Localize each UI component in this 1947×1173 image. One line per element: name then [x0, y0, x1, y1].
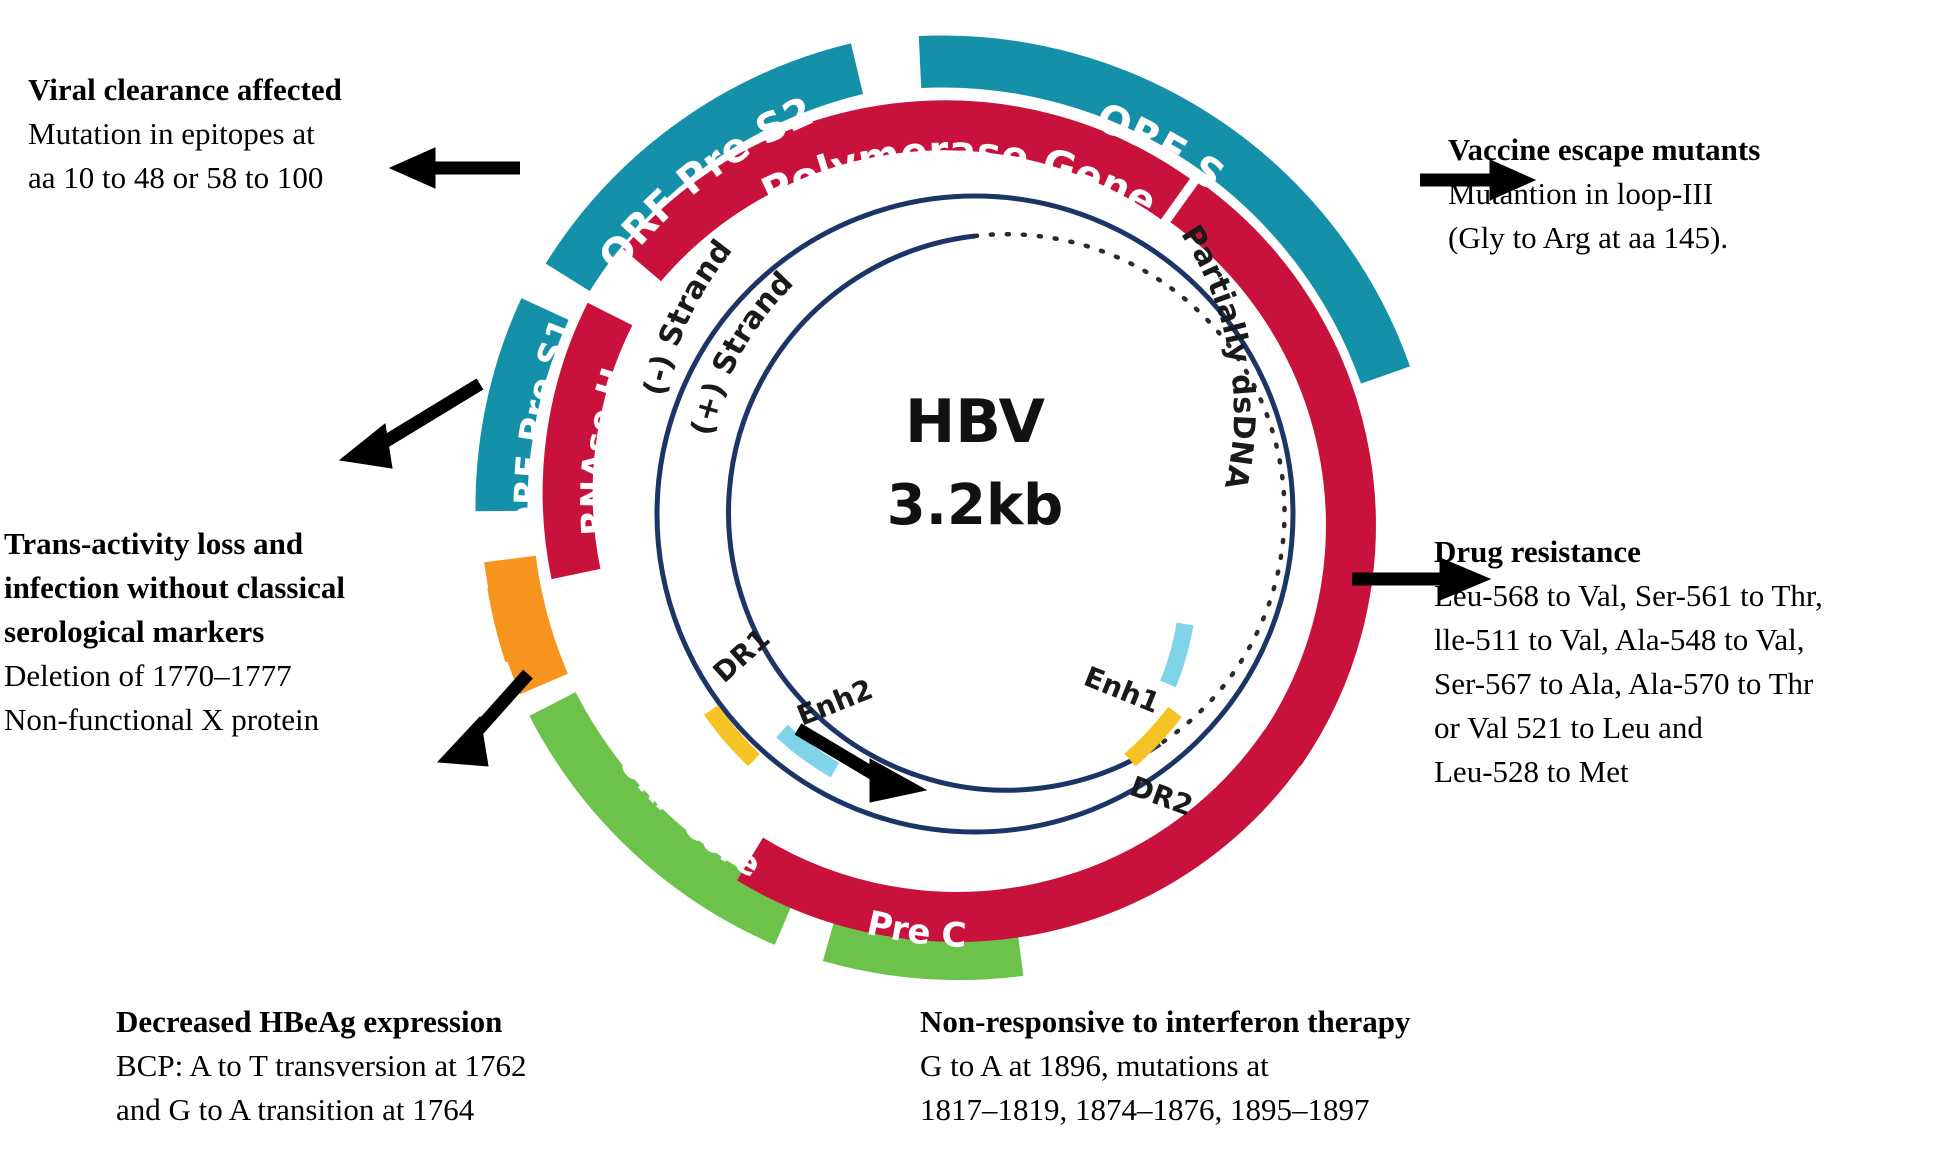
- center-subtitle: 3.2kb: [887, 473, 1064, 538]
- label-orf-p: ORF P: [912, 841, 1035, 891]
- hbeag-heading: Decreased HBeAg expression: [116, 1000, 527, 1044]
- feature-dr2-block: [1130, 712, 1175, 760]
- viral-clearance-heading: Viral clearance affected: [28, 68, 342, 112]
- annotation-vaccine-escape: Vaccine escape mutants Mutantion in loop…: [1448, 128, 1760, 260]
- vaccine-escape-line-2: (Gly to Arg at aa 145).: [1448, 216, 1760, 260]
- annotation-hbeag: Decreased HBeAg expression BCP: A to T t…: [116, 1000, 527, 1132]
- trans-activity-line-1: Deletion of 1770–1777: [4, 654, 345, 698]
- drug-resistance-line-4: or Val 521 to Leu and: [1434, 706, 1823, 750]
- label-dr2: DR2: [1126, 770, 1198, 823]
- trans-activity-heading-line-1: Trans-activity loss and: [4, 522, 345, 566]
- feature-enh1-block: [1168, 624, 1185, 684]
- center-title: HBV: [905, 387, 1046, 457]
- interferon-line-2: 1817–1819, 1874–1876, 1895–1897: [920, 1088, 1411, 1132]
- vaccine-escape-heading: Vaccine escape mutants: [1448, 128, 1760, 172]
- vaccine-escape-line-1: Mutantion in loop-III: [1448, 172, 1760, 216]
- arc-orf-x-body: [510, 559, 544, 684]
- trans-activity-line-2: Non-functional X protein: [4, 698, 345, 742]
- hbeag-line-1: BCP: A to T transversion at 1762: [116, 1044, 527, 1088]
- arrow-hbeag: [438, 674, 528, 766]
- trans-activity-heading-line-2: infection without classical: [4, 566, 345, 610]
- label-enh2: Enh2: [792, 672, 877, 732]
- annotation-drug-resistance: Drug resistance Leu-568 to Val, Ser-561 …: [1434, 530, 1823, 794]
- interferon-line-1: G to A at 1896, mutations at: [920, 1044, 1411, 1088]
- viral-clearance-line-1: Mutation in epitopes at: [28, 112, 342, 156]
- hbeag-line-2: and G to A transition at 1764: [116, 1088, 527, 1132]
- trans-activity-heading-line-3: serological markers: [4, 610, 345, 654]
- label-enh1: Enh1: [1079, 660, 1164, 720]
- label-orf-x: ORF X: [544, 581, 610, 701]
- drug-resistance-line-1: Leu-568 to Val, Ser-561 to Thr,: [1434, 574, 1823, 618]
- interferon-heading: Non-responsive to interferon therapy: [920, 1000, 1411, 1044]
- drug-resistance-line-2: lle-511 to Val, Ala-548 to Val,: [1434, 618, 1823, 662]
- annotation-viral-clearance: Viral clearance affected Mutation in epi…: [28, 68, 342, 200]
- viral-clearance-line-2: aa 10 to 48 or 58 to 100: [28, 156, 342, 200]
- drug-resistance-line-3: Ser-567 to Ala, Ala-570 to Thr: [1434, 662, 1823, 706]
- annotation-trans-activity: Trans-activity loss and infection withou…: [4, 522, 345, 742]
- drug-resistance-heading: Drug resistance: [1434, 530, 1823, 574]
- arrow-trans-activity: [340, 384, 480, 468]
- drug-resistance-line-5: Leu-528 to Met: [1434, 750, 1823, 794]
- hbv-genome-diagram: ORF Pre S2 ORF S ORF Pre S1 ORF X ORF Co…: [330, 0, 1620, 1044]
- annotation-interferon: Non-responsive to interferon therapy G t…: [920, 1000, 1411, 1132]
- label-dr1: DR1: [707, 622, 777, 690]
- arrow-viral-clearance: [390, 148, 520, 188]
